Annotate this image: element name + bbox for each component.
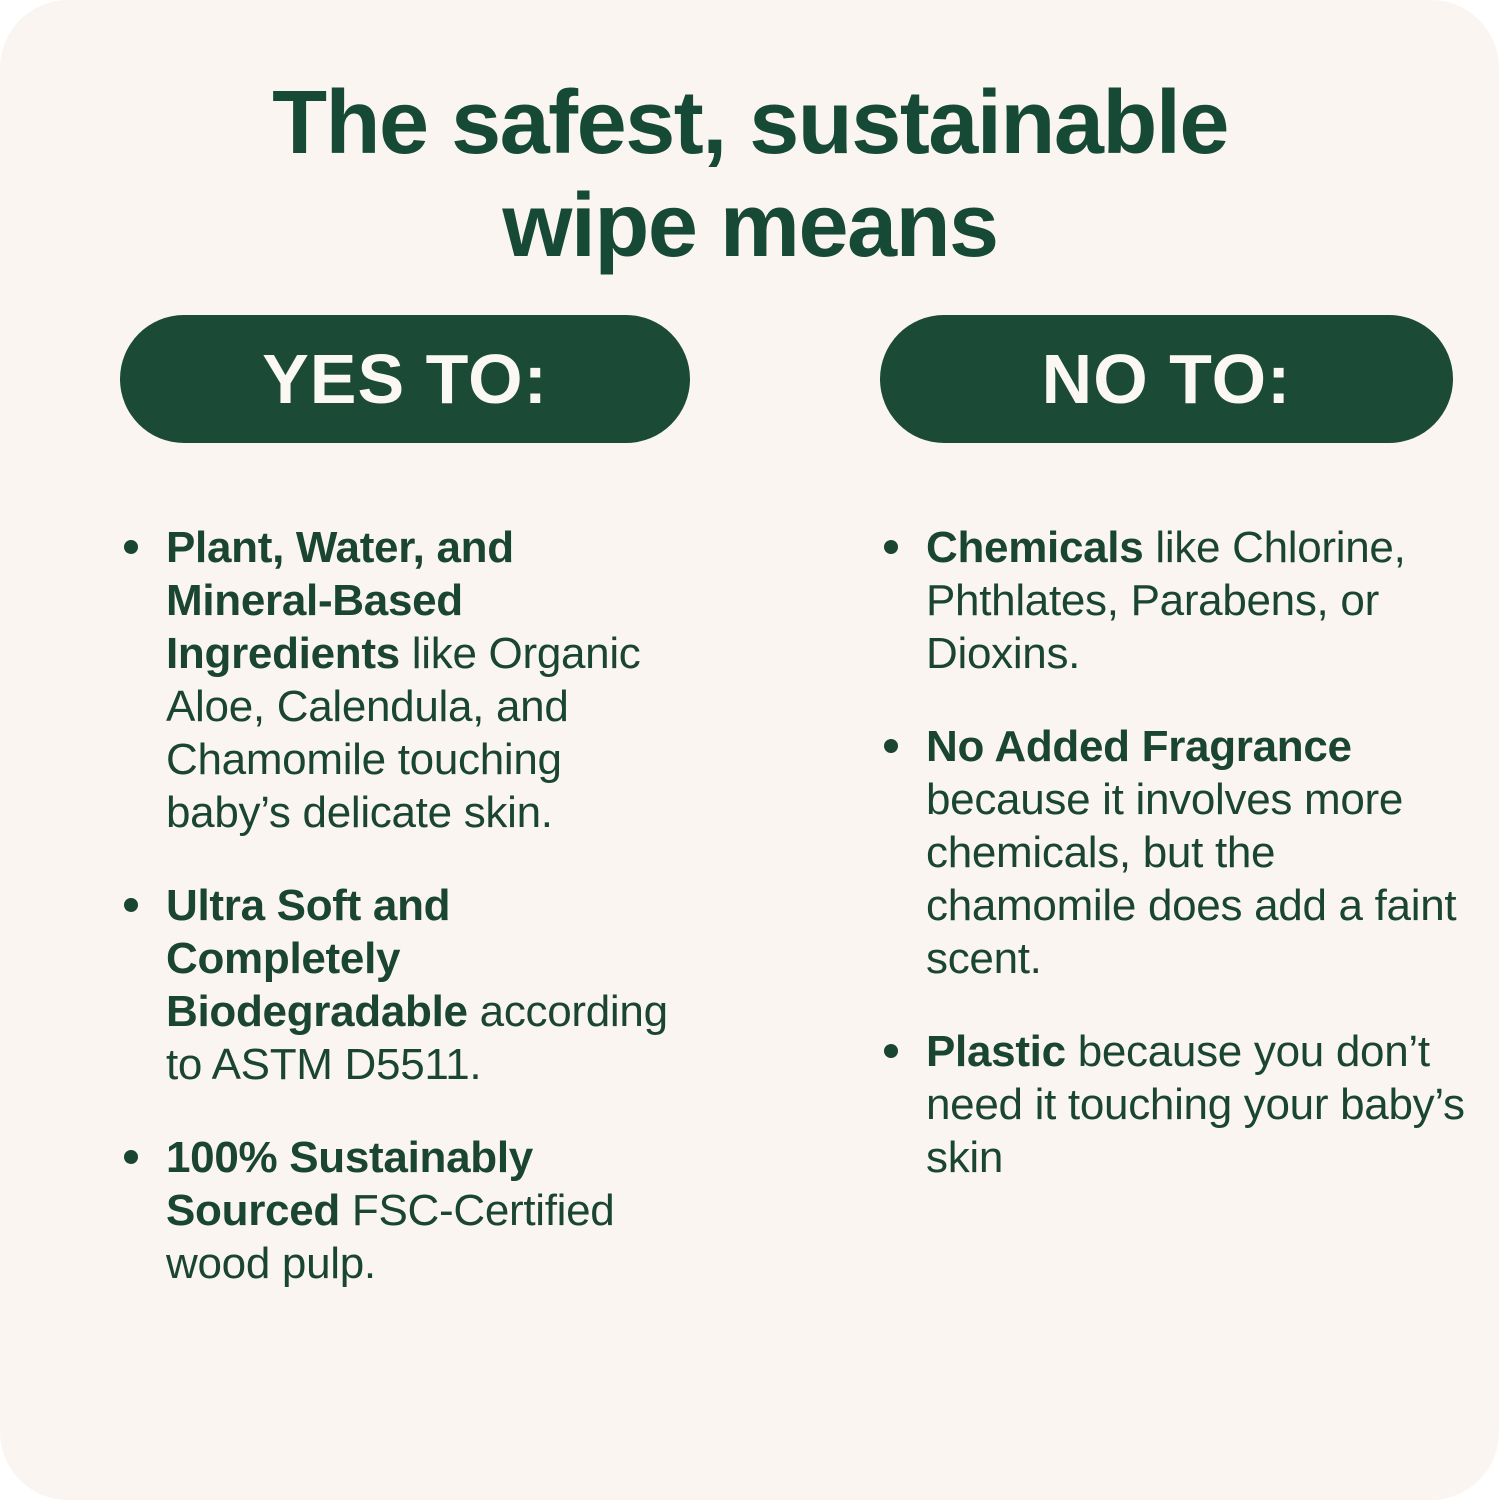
list-item-detail: because it involves more chemicals, but … (926, 775, 1456, 983)
bullet-dot-icon (124, 898, 138, 912)
bullet-dot-icon (124, 1150, 138, 1164)
list-item-lead: Ultra Soft and Completely Biodegradable (166, 881, 468, 1036)
page-title: The safest, sustainable wipe means (150, 72, 1350, 278)
comparison-columns: YES TO: Plant, Water, and Mineral-Based … (0, 315, 1499, 1290)
list-item-lead: Chemicals (926, 523, 1143, 572)
no-column: NO TO: Chemicals like Chlorine, Phthlate… (690, 315, 1499, 1184)
bullet-dot-icon (884, 1044, 898, 1058)
no-bullet-list: Chemicals like Chlorine, Phthlates, Para… (880, 521, 1499, 1184)
list-item-text: No Added Fragrance because it involves m… (926, 720, 1466, 985)
bullet-dot-icon (884, 739, 898, 753)
list-item-text: Plastic because you don’t need it touchi… (926, 1025, 1466, 1184)
bullet-dot-icon (884, 540, 898, 554)
list-item: 100% Sustainably Sourced FSC-Certified w… (120, 1131, 686, 1290)
list-item: Chemicals like Chlorine, Phthlates, Para… (880, 521, 1466, 680)
yes-to-pill: YES TO: (120, 315, 690, 443)
list-item-text: 100% Sustainably Sourced FSC-Certified w… (166, 1131, 686, 1290)
list-item-lead: Plastic (926, 1027, 1066, 1076)
list-item: Plastic because you don’t need it touchi… (880, 1025, 1466, 1184)
list-item-text: Plant, Water, and Mineral-Based Ingredie… (166, 521, 686, 839)
yes-column: YES TO: Plant, Water, and Mineral-Based … (0, 315, 690, 1290)
list-item: No Added Fragrance because it involves m… (880, 720, 1466, 985)
no-to-pill: NO TO: (880, 315, 1453, 443)
yes-bullet-list: Plant, Water, and Mineral-Based Ingredie… (120, 521, 690, 1290)
list-item: Ultra Soft and Completely Biodegradable … (120, 879, 686, 1091)
infographic-card: The safest, sustainable wipe means YES T… (0, 0, 1499, 1500)
list-item: Plant, Water, and Mineral-Based Ingredie… (120, 521, 686, 839)
list-item-text: Ultra Soft and Completely Biodegradable … (166, 879, 686, 1091)
bullet-dot-icon (124, 540, 138, 554)
list-item-text: Chemicals like Chlorine, Phthlates, Para… (926, 521, 1466, 680)
list-item-lead: No Added Fragrance (926, 722, 1352, 771)
